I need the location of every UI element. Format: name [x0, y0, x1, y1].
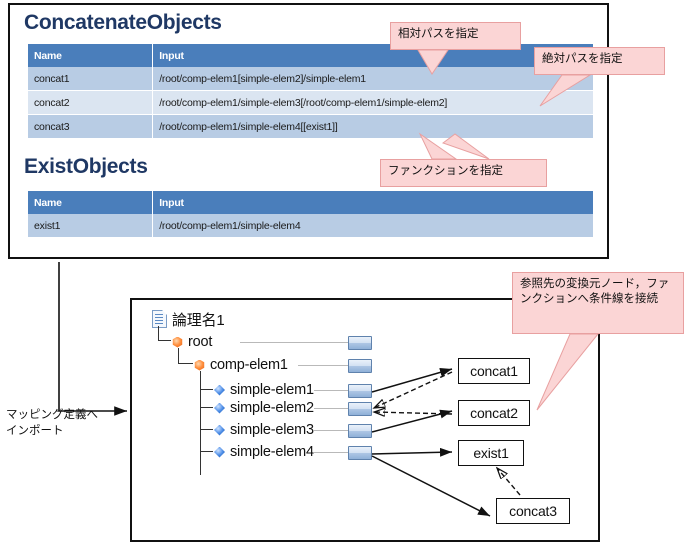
function-box-exist1[interactable]: exist1 — [458, 440, 524, 466]
table-row[interactable]: exist1 /root/comp-elem1/simple-elem4 — [28, 214, 593, 238]
tree-item-label: simple-elem4 — [230, 444, 314, 460]
table-row[interactable]: concat2 /root/comp-elem1/simple-elem3[/r… — [28, 91, 593, 115]
tree-leader-line — [298, 365, 348, 366]
connector-box-comp-elem1[interactable] — [348, 359, 372, 373]
cell-name: concat1 — [28, 67, 153, 91]
cell-name: concat2 — [28, 91, 153, 115]
table-row[interactable]: concat1 /root/comp-elem1[simple-elem2]/s… — [28, 67, 593, 91]
import-label: マッピング定義へ インポート — [6, 408, 98, 439]
exist-objects-table: Name Input exist1 /root/comp-elem1/simpl… — [28, 191, 593, 238]
tree-elbow — [200, 429, 213, 452]
callout-function: ファンクションを指定 — [380, 159, 547, 187]
callout-reference: 参照先の変換元ノード，ファンクションへ条件線を接続 — [512, 272, 684, 334]
tree-item-label: comp-elem1 — [210, 357, 288, 373]
column-header-input: Input — [153, 44, 593, 67]
cell-input: /root/comp-elem1/simple-elem4 — [153, 214, 593, 238]
tree-item-label: simple-elem1 — [230, 382, 314, 398]
exist-objects-title: ExistObjects — [24, 155, 148, 179]
import-label-line2: インポート — [6, 424, 98, 440]
diamond-node-icon — [214, 425, 225, 436]
tree-leader-line — [314, 452, 348, 453]
connector-box-root[interactable] — [348, 336, 372, 350]
tree-item-label: 論理名1 — [172, 309, 225, 330]
function-box-concat1[interactable]: concat1 — [458, 358, 530, 384]
diamond-node-icon — [214, 447, 225, 458]
tree-item-logical-name[interactable]: 論理名1 — [152, 308, 225, 330]
import-label-line1: マッピング定義へ — [6, 408, 98, 424]
column-header-input: Input — [153, 191, 593, 214]
tree-leader-line — [240, 342, 348, 343]
tree-elbow — [200, 407, 213, 430]
tree-item-label: simple-elem2 — [230, 400, 314, 416]
tree-item-label: root — [188, 334, 212, 350]
tree-item-root[interactable]: root — [172, 331, 212, 353]
tree-item-simple-elem4[interactable]: simple-elem4 — [214, 441, 314, 463]
mapping-definition-panel: 論理名1 root comp-elem1 simple-elem1 simple… — [130, 298, 600, 542]
connector-box-simple-elem4[interactable] — [348, 446, 372, 460]
diamond-node-icon — [214, 403, 225, 414]
hex-node-icon — [194, 360, 205, 371]
tree-leader-line — [314, 430, 348, 431]
column-header-name: Name — [28, 191, 153, 214]
callout-absolute-path: 絶対パスを指定 — [534, 47, 665, 75]
cell-name: concat3 — [28, 115, 153, 139]
connector-box-simple-elem2[interactable] — [348, 402, 372, 416]
cell-input: /root/comp-elem1/simple-elem4[[exist1]] — [153, 115, 593, 139]
hex-node-icon — [172, 337, 183, 348]
tree-item-label: simple-elem3 — [230, 422, 314, 438]
cell-input: /root/comp-elem1[simple-elem2]/simple-el… — [153, 67, 593, 91]
import-arrow — [59, 262, 127, 411]
connector-box-simple-elem1[interactable] — [348, 384, 372, 398]
function-box-concat2[interactable]: concat2 — [458, 400, 530, 426]
tree-spine — [200, 371, 201, 475]
tree-leader-line — [314, 390, 348, 391]
callout-relative-path: 相対パスを指定 — [390, 22, 521, 50]
document-icon — [152, 310, 167, 328]
tree-item-simple-elem2[interactable]: simple-elem2 — [214, 397, 314, 419]
diamond-node-icon — [214, 385, 225, 396]
column-header-name: Name — [28, 44, 153, 67]
tree-leader-line — [314, 408, 348, 409]
function-box-concat3[interactable]: concat3 — [496, 498, 570, 524]
tree-elbow — [200, 389, 213, 408]
table-row[interactable]: concat3 /root/comp-elem1/simple-elem4[[e… — [28, 115, 593, 139]
connector-box-simple-elem3[interactable] — [348, 424, 372, 438]
table-header-row: Name Input — [28, 191, 593, 214]
cell-input: /root/comp-elem1/simple-elem3[/root/comp… — [153, 91, 593, 115]
tree-item-comp-elem1[interactable]: comp-elem1 — [194, 354, 288, 376]
tree-item-simple-elem3[interactable]: simple-elem3 — [214, 419, 314, 441]
concatenate-objects-title: ConcatenateObjects — [24, 11, 222, 35]
cell-name: exist1 — [28, 214, 153, 238]
concatenate-objects-table: Name Input concat1 /root/comp-elem1[simp… — [28, 44, 593, 139]
